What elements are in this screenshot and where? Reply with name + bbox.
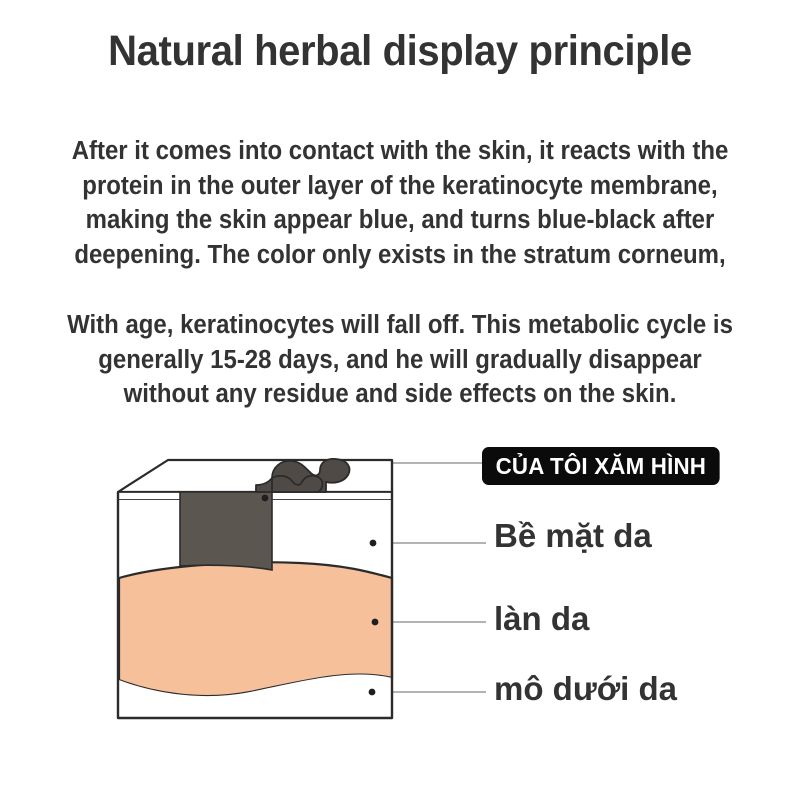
paragraph-line: deepening. The color only exists in the …	[32, 238, 769, 273]
leader-dot-surface	[370, 540, 377, 547]
tattoo-ink-body	[180, 492, 272, 570]
layer-label-subcutaneous: mô dưới da	[494, 672, 677, 705]
tattoo-ink-badge: CỦA TÔI XĂM HÌNH	[482, 447, 720, 485]
leader-dot-ink	[262, 495, 269, 502]
leader-dot-subcutis	[369, 689, 376, 696]
paragraph-line: making the skin appear blue, and turns b…	[32, 203, 769, 238]
paragraph-line: With age, keratinocytes will fall off. T…	[32, 308, 769, 343]
page-title: Natural herbal display principle	[28, 28, 772, 75]
intro-paragraph: After it comes into contact with the ski…	[32, 134, 769, 273]
paragraph-line: After it comes into contact with the ski…	[32, 134, 769, 169]
layer-label-dermis: làn da	[494, 602, 589, 635]
block-top-face	[118, 460, 392, 492]
layer-label-skin-surface: Bề mặt da	[494, 519, 652, 552]
paragraph-line: protein in the outer layer of the kerati…	[32, 169, 769, 204]
leader-dot-dermis	[372, 619, 379, 626]
paragraph-line: generally 15-28 days, and he will gradua…	[32, 343, 769, 378]
paragraph-line: without any residue and side effects on …	[32, 377, 769, 412]
metabolism-paragraph: With age, keratinocytes will fall off. T…	[32, 308, 769, 412]
